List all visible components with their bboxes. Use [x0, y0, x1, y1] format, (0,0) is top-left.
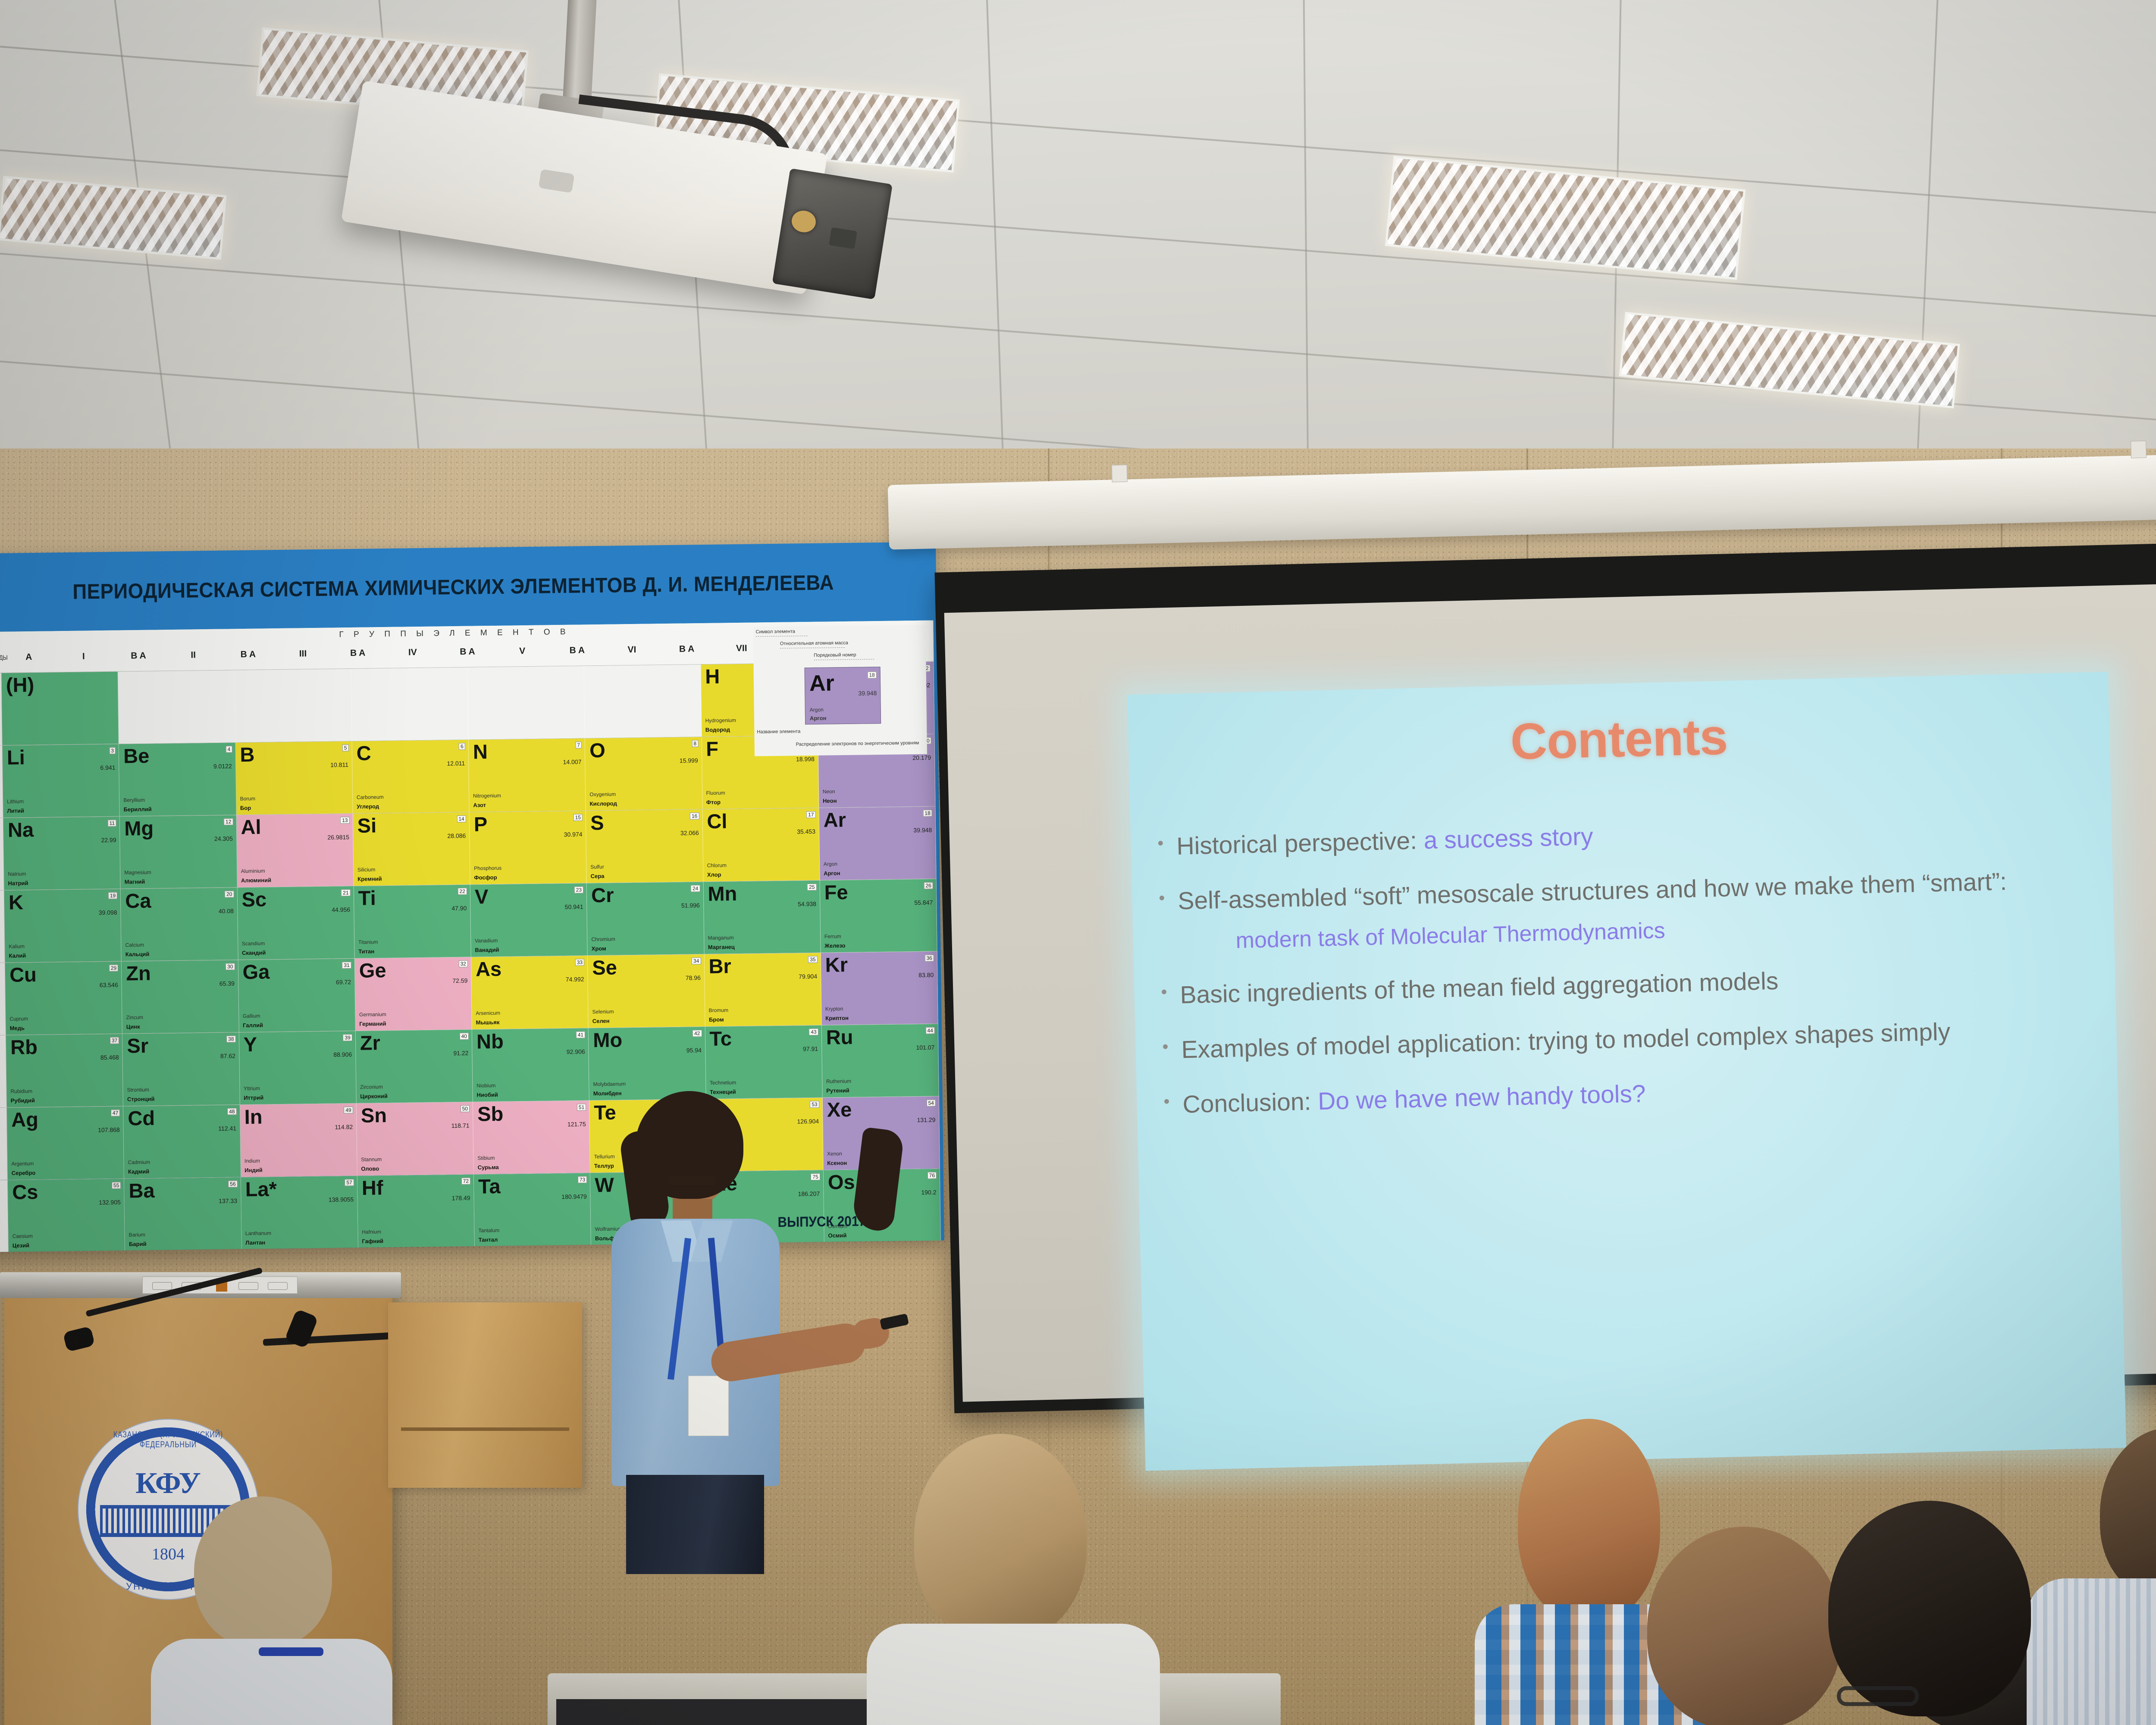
element-russian-name: Скандий	[242, 949, 266, 956]
element-cell: Ar1839.948ArgonАргон	[819, 806, 936, 880]
slide-bullet-item: • Historical perspective: a success stor…	[1157, 809, 2112, 862]
element-latin-name: Caesium	[12, 1233, 33, 1239]
element-cell: Ge3272.59GermaniumГерманий	[354, 957, 472, 1031]
element-atomic-number: 37	[110, 1037, 119, 1044]
element-atomic-number: 8	[692, 740, 698, 747]
element-russian-name: Калий	[9, 952, 26, 959]
element-atomic-number: 73	[578, 1176, 587, 1183]
group-header: B A	[440, 646, 495, 666]
element-russian-name: Фтор	[706, 799, 721, 806]
eyeglasses-icon	[1837, 1686, 1919, 1706]
element-atomic-number: 56	[228, 1180, 238, 1187]
periodic-table-legend: Символ элемента Относительная атомная ма…	[753, 625, 927, 756]
element-atomic-number: 40	[459, 1033, 469, 1040]
element-russian-name: Серебро	[12, 1170, 36, 1176]
element-atomic-number: 76	[928, 1172, 937, 1179]
group-header: A	[1, 652, 56, 671]
legend-serial-caption: Порядковый номер	[814, 652, 856, 658]
audience-member	[177, 1496, 358, 1725]
element-latin-name: Zincum	[126, 1014, 144, 1020]
element-latin-name: Stannum	[361, 1156, 382, 1163]
element-cell: Cu2963.546CuprumМедь	[5, 962, 122, 1035]
periodic-table-grid: Г Р У П П Ы Э Л Е М Е Н Т О В ПЕРИОДЫ AI…	[0, 620, 940, 1162]
element-atomic-mass: 107.868	[98, 1126, 120, 1134]
element-latin-name: Ferrum	[824, 933, 841, 939]
group-header: B A	[659, 644, 714, 664]
slide-bullet-list: • Historical perspective: a success stor…	[1157, 809, 2118, 1121]
element-cell: Y3988.906YttriumИттрий	[239, 1031, 356, 1104]
element-atomic-mass: 12.011	[447, 760, 465, 767]
element-latin-name: Borum	[240, 796, 256, 802]
element-atomic-mass: 85.468	[100, 1054, 119, 1061]
element-atomic-number: 49	[344, 1107, 353, 1113]
element-atomic-mass: 40.08	[219, 907, 234, 914]
element-latin-name: Barium	[129, 1232, 145, 1238]
element-atomic-number: 29	[109, 965, 119, 972]
emblem-abbreviation: КФУ	[78, 1466, 259, 1501]
element-atomic-mass: 69.72	[336, 979, 351, 985]
element-latin-name: Rubidium	[10, 1088, 32, 1095]
element-cell: Sb51121.75StibiumСурьма	[473, 1101, 590, 1174]
element-latin-name: Vanadium	[475, 938, 498, 944]
element-russian-name: Титан	[358, 948, 374, 954]
element-latin-name: Lithium	[7, 798, 24, 804]
element-atomic-mass: 32.066	[680, 829, 699, 837]
element-atomic-mass: 22.99	[101, 837, 116, 844]
element-symbol: Sr	[127, 1035, 235, 1056]
element-cell: Ga3169.72GalliumГаллий	[238, 959, 355, 1032]
element-atomic-mass: 91.22	[453, 1050, 468, 1057]
audience-head	[2100, 1427, 2156, 1600]
element-atomic-number: 21	[341, 889, 351, 896]
legend-sample-latin: Argon	[810, 707, 824, 713]
element-atomic-mass: 178.49	[452, 1195, 470, 1202]
element-latin-name: Arsenicum	[476, 1010, 500, 1016]
element-russian-name: Лантан	[245, 1239, 265, 1246]
element-atomic-mass: 26.9815	[327, 834, 349, 841]
element-atomic-mass: 112.41	[218, 1125, 236, 1132]
element-latin-name: Titanium	[358, 939, 378, 945]
element-atomic-number: 54	[926, 1099, 936, 1106]
element-atomic-number: 15	[573, 814, 583, 821]
element-cell: La*57138.9055LanthanumЛантан	[241, 1176, 358, 1249]
audience-head	[194, 1496, 332, 1647]
element-cell: Zr4091.22ZirconiumЦирконий	[356, 1030, 473, 1103]
element-symbol: Kr	[825, 954, 934, 975]
element-atomic-mass: 24.305	[214, 835, 233, 842]
element-atomic-number: 30	[226, 963, 235, 970]
element-russian-name: Кальций	[125, 951, 150, 958]
element-atomic-mass: 88.906	[333, 1051, 352, 1058]
element-russian-name: Ванадий	[475, 947, 499, 953]
element-cell: Kr3683.80KryptonКриптон	[821, 951, 938, 1025]
element-latin-name: Nitrogenium	[473, 793, 501, 799]
legend-mass-caption: Относительная атомная масса	[780, 640, 848, 646]
bullet-dot-icon: •	[1161, 979, 1180, 1004]
ceiling	[0, 0, 2156, 483]
element-latin-name: Technetium	[710, 1079, 736, 1086]
presenter-name-badge	[688, 1376, 729, 1436]
legend-symbol-caption: Символ элемента	[755, 629, 795, 634]
element-atomic-mass: 10.811	[330, 761, 348, 768]
element-atomic-number: 4	[226, 746, 232, 753]
element-latin-name: Hydrogenium	[705, 717, 736, 724]
emblem-top-text: КАЗАНСКИЙ (ПРИВОЛЖСКИЙ) ФЕДЕРАЛЬНЫЙ	[96, 1430, 241, 1450]
element-atomic-mass: 101.07	[916, 1044, 934, 1051]
chair-back	[556, 1699, 875, 1725]
element-symbol: Tc	[709, 1028, 818, 1049]
element-cell: Ag47107.868ArgentumСеребро	[7, 1106, 124, 1179]
element-cell: Sn50118.71StannumОлово	[357, 1102, 474, 1176]
element-cell	[118, 670, 235, 743]
element-cell: Ru44101.07RutheniumРутений	[821, 1024, 939, 1097]
element-russian-name: Мышьяк	[476, 1019, 499, 1026]
element-cell: Ca2040.08CalciumКальций	[121, 888, 238, 961]
periodic-table-row: 4K1939.098KaliumКалийCa2040.08CalciumКал…	[0, 879, 937, 963]
element-cell: O815.999OxygeniumКислород	[585, 737, 702, 810]
group-header: II	[166, 650, 221, 670]
element-atomic-number: 18	[923, 810, 932, 817]
element-russian-name: Фосфор	[474, 874, 497, 881]
element-latin-name: Beryllium	[123, 797, 145, 803]
group-header: B A	[330, 648, 385, 668]
legend-sample-element: Ar 18 39.948 Argon Аргон	[805, 667, 881, 724]
element-cell: B510.811BorumБор	[235, 741, 353, 815]
element-atomic-mass: 65.39	[219, 980, 235, 987]
element-cell: Nb4192.906NiobiumНиобий	[472, 1028, 589, 1101]
element-cell: K1939.098KaliumКалий	[4, 889, 122, 963]
element-cell: Be49.0122BerylliumБериллий	[119, 743, 236, 816]
element-atomic-number: 47	[111, 1110, 120, 1117]
element-russian-name: Сера	[591, 873, 605, 879]
element-russian-name: Олово	[361, 1165, 379, 1172]
element-atomic-mass: 97.91	[803, 1045, 818, 1052]
element-russian-name: Цирконий	[360, 1093, 388, 1100]
element-cell: Li36.941LithiumЛитий	[3, 744, 120, 818]
group-header: V	[495, 646, 550, 665]
element-cell: Rb3785.468RubidiumРубидий	[6, 1034, 123, 1107]
element-atomic-mass: 138.9055	[329, 1196, 354, 1203]
element-latin-name: Indium	[244, 1158, 260, 1164]
element-atomic-mass: 39.948	[913, 827, 932, 834]
element-latin-name: Germanium	[359, 1011, 386, 1018]
element-atomic-mass: 55.847	[914, 899, 933, 906]
element-atomic-mass: 15.999	[680, 757, 698, 764]
element-cell	[235, 669, 352, 742]
legend-sample-mass: 39.948	[858, 690, 877, 697]
legend-shells-caption: Распределение электронов по энергетическ…	[796, 740, 921, 747]
element-latin-name: Hafnium	[362, 1229, 381, 1235]
element-russian-name: Германий	[359, 1020, 386, 1027]
element-atomic-number: 20	[225, 891, 234, 897]
element-atomic-mass: 6.941	[100, 764, 115, 771]
element-cell: Cr2451.996ChromiumХром	[587, 882, 704, 955]
audience-shoulders	[867, 1624, 1160, 1725]
element-atomic-mass: 118.71	[451, 1122, 470, 1129]
element-atomic-mass: 180.9479	[561, 1193, 587, 1200]
periodic-table-row: 3Na1122.99NatriumНатрийMg1224.305Magnesi…	[0, 806, 937, 891]
socket-icon	[152, 1282, 172, 1290]
periodic-table-row: Cu2963.546CuprumМедьZn3065.39ZincumЦинкG…	[0, 951, 938, 1035]
bullet-text: Self-assembled “soft” mesoscale structur…	[1178, 863, 2113, 917]
element-atomic-number: 51	[577, 1104, 586, 1110]
element-atomic-mass: 9.0122	[213, 762, 232, 770]
element-atomic-mass: 121.75	[567, 1120, 586, 1128]
element-russian-name: Кремний	[357, 875, 382, 882]
element-atomic-number: 42	[693, 1030, 702, 1037]
slide-bullet-item: • Examples of model application: trying …	[1162, 1012, 2117, 1066]
element-cell: Se3478.96SeleniumСелен	[588, 954, 705, 1028]
cabinet-drawer-line	[401, 1427, 569, 1431]
element-atomic-number: 6	[459, 743, 465, 750]
element-russian-name: Ниобий	[477, 1091, 498, 1098]
projector-sensor-icon	[539, 169, 575, 193]
group-header: VI	[605, 644, 660, 664]
legend-sample-number: 18	[867, 671, 877, 678]
element-symbol: Se	[592, 957, 701, 978]
lecture-hall-scene: ПЕРИОДИЧЕСКАЯ СИСТЕМА ХИМИЧЕСКИХ ЭЛЕМЕНТ…	[0, 0, 2156, 1725]
group-header: I	[56, 651, 111, 671]
element-atomic-mass: 39.098	[99, 909, 117, 916]
socket-icon	[238, 1282, 258, 1290]
element-russian-name: Бериллий	[124, 806, 152, 813]
element-atomic-mass: 50.941	[565, 903, 583, 910]
bullet-dot-icon: •	[1159, 885, 1178, 910]
element-latin-name: Silicium	[357, 866, 376, 873]
bullet-accent-text: Do we have new handy tools?	[1318, 1080, 1646, 1115]
element-russian-name: Тантал	[479, 1236, 498, 1243]
element-symbol: Mo	[593, 1029, 702, 1050]
slide-title: Contents	[1128, 699, 2110, 781]
element-russian-name: Водород	[705, 726, 730, 733]
element-atomic-number: 12	[224, 818, 233, 825]
element-russian-name: Углерод	[357, 803, 379, 810]
element-russian-name: Хром	[592, 945, 606, 952]
element-latin-name: Chromium	[591, 936, 615, 943]
presenter-trousers	[626, 1475, 764, 1574]
element-latin-name: Neon	[823, 788, 835, 794]
element-cell: In49114.82IndiumИндий	[240, 1104, 357, 1177]
element-russian-name: Кадмий	[128, 1168, 149, 1175]
bullet-text: Historical perspective: a success story	[1176, 809, 2112, 862]
element-symbol: Ca	[125, 890, 234, 911]
socket-icon	[268, 1282, 288, 1290]
screen-surface: Contents • Historical perspective: a suc…	[944, 581, 2156, 1402]
screen-mount-right	[2131, 441, 2147, 458]
slide-bullet-item: • Conclusion: Do we have new handy tools…	[1163, 1067, 2118, 1121]
element-atomic-mass: 95.94	[686, 1047, 702, 1054]
element-atomic-number: 43	[809, 1029, 818, 1035]
element-russian-name: Неон	[823, 797, 837, 804]
element-russian-name: Медь	[10, 1025, 25, 1031]
element-atomic-number: 26	[924, 882, 933, 889]
element-latin-name: Cadmium	[128, 1159, 150, 1166]
projector-port-icon	[790, 209, 817, 234]
element-russian-name: Литий	[7, 807, 24, 814]
element-atomic-number: 16	[690, 812, 699, 819]
slide-subline: modern task of Molecular Thermodynamics	[1235, 906, 2114, 955]
element-cell: Al1326.9815AluminiumАлюминий	[236, 814, 354, 887]
group-header: B A	[221, 649, 276, 669]
element-atomic-mass: 20.179	[912, 754, 931, 762]
element-russian-name: Иттрий	[244, 1095, 263, 1101]
element-cell: Mg1224.305MagnesiumМагний	[120, 815, 237, 888]
element-atomic-mass: 74.992	[566, 975, 584, 983]
element-cell: Br3579.904BromumБром	[704, 953, 821, 1026]
element-atomic-number: 14	[457, 815, 466, 822]
element-russian-name: Рубидий	[11, 1097, 35, 1104]
element-cell: Zn3065.39ZincumЦинк	[122, 960, 239, 1033]
element-russian-name: Магний	[125, 878, 145, 885]
laser-pointer[interactable]	[880, 1314, 909, 1330]
element-russian-name: Цезий	[13, 1242, 30, 1248]
element-latin-name: Yttrium	[244, 1085, 260, 1091]
element-russian-name: Кислород	[590, 800, 617, 807]
element-russian-name: Гафний	[362, 1238, 383, 1245]
element-latin-name: Lanthanum	[245, 1230, 271, 1236]
screen-mount-left	[1112, 465, 1128, 483]
element-latin-name: Aluminium	[241, 868, 265, 874]
element-latin-name: Niobium	[476, 1082, 495, 1089]
element-symbol: Ga	[242, 961, 351, 982]
element-russian-name: Натрий	[8, 880, 28, 887]
element-russian-name: Азот	[473, 802, 486, 808]
element-cell: Na1122.99NatriumНатрий	[3, 817, 121, 890]
element-atomic-mass: 83.80	[918, 972, 934, 979]
element-russian-name: Бор	[240, 805, 251, 811]
side-cabinet	[388, 1302, 582, 1488]
element-cell	[584, 665, 702, 738]
element-russian-name: Селен	[592, 1018, 610, 1024]
element-atomic-mass: 92.906	[567, 1048, 585, 1055]
element-russian-name: Бром	[709, 1016, 724, 1022]
element-latin-name: Selenium	[592, 1009, 614, 1015]
element-latin-name: Manganum	[708, 935, 734, 941]
bullet-text: Basic ingredients of the mean field aggr…	[1180, 957, 2115, 1011]
projector-lens	[772, 168, 893, 299]
element-atomic-mass: 54.938	[798, 900, 816, 908]
element-atomic-mass: 18.998	[796, 756, 815, 763]
element-russian-name: Криптон	[825, 1015, 849, 1022]
element-symbol: Ti	[358, 888, 467, 908]
element-symbol: (H)	[6, 674, 115, 695]
element-cell: Cd48112.41CadmiumКадмий	[123, 1105, 241, 1178]
element-symbol: Li	[7, 747, 116, 768]
element-cell: Ta73180.9479TantalumТантал	[474, 1173, 591, 1246]
bullet-accent-text: a success story	[1423, 823, 1593, 854]
element-atomic-number: 57	[345, 1179, 354, 1186]
presenter	[608, 1091, 910, 1578]
element-atomic-mass: 14.007	[563, 758, 582, 765]
element-latin-name: Scandium	[242, 940, 265, 947]
element-atomic-number: 50	[461, 1105, 470, 1112]
projector-port2-icon	[829, 227, 857, 249]
element-atomic-number: 55	[112, 1182, 121, 1189]
element-russian-name: Аргон	[824, 870, 840, 876]
element-russian-name: Стронций	[127, 1096, 155, 1103]
element-latin-name: Chlorum	[707, 862, 727, 869]
element-russian-name: Барий	[129, 1241, 147, 1247]
element-russian-name: Марганец	[708, 944, 735, 950]
element-russian-name: Цинк	[126, 1023, 140, 1030]
element-atomic-number: 19	[108, 892, 118, 899]
element-russian-name: Железо	[824, 942, 846, 949]
element-latin-name: Sulfur	[590, 864, 604, 870]
element-latin-name: Strontium	[127, 1087, 150, 1093]
bullet-text: Conclusion: Do we have new handy tools?	[1182, 1067, 2118, 1120]
element-atomic-number: 17	[806, 811, 816, 818]
element-cell: Mo4295.94MolybdaenumМолибден	[589, 1027, 706, 1100]
element-latin-name: Stibium	[477, 1155, 495, 1161]
projection-screen: Contents • Historical perspective: a suc…	[934, 540, 2156, 1413]
audience-lanyard	[259, 1647, 323, 1656]
element-atomic-mass: 72.59	[452, 977, 467, 984]
element-latin-name: Carboneum	[357, 794, 384, 800]
element-atomic-number: 31	[342, 962, 351, 969]
element-atomic-mass: 51.996	[681, 902, 700, 909]
group-header: B A	[111, 650, 166, 670]
element-latin-name: Kalium	[9, 943, 25, 949]
presenter-moustache	[668, 1176, 716, 1185]
element-latin-name: Calcium	[125, 942, 144, 948]
element-atomic-number: 41	[576, 1031, 586, 1038]
element-atomic-number: 32	[458, 960, 468, 967]
element-latin-name: Natrium	[8, 871, 26, 877]
element-atomic-number: 35	[808, 956, 818, 963]
element-atomic-number: 33	[575, 959, 585, 966]
element-atomic-number: 5	[342, 744, 349, 751]
element-atomic-number: 36	[924, 955, 934, 962]
element-latin-name: Krypton	[825, 1006, 843, 1012]
group-header: III	[276, 649, 331, 668]
element-atomic-mass: 28.086	[447, 832, 466, 840]
element-symbol: Zr	[360, 1032, 469, 1053]
period-number: 6	[0, 1180, 9, 1252]
element-cell	[467, 666, 585, 739]
element-russian-name: Алюминий	[241, 877, 271, 884]
element-cell: Hf72178.49HafniumГафний	[357, 1175, 475, 1248]
element-cell: Ti2247.90TitaniumТитан	[354, 885, 471, 958]
element-atomic-mass: 132.905	[99, 1199, 121, 1206]
element-cell: Ba56137.33BariumБарий	[124, 1177, 241, 1251]
bullet-dot-icon: •	[1162, 1034, 1181, 1059]
element-atomic-number: 72	[461, 1178, 471, 1185]
element-cell	[351, 668, 468, 741]
element-atomic-mass: 79.904	[799, 973, 817, 980]
element-cell: Mn2554.938ManganumМарганец	[703, 881, 821, 954]
element-latin-name: Fluorum	[706, 790, 725, 796]
element-atomic-mass: 63.546	[100, 982, 118, 989]
element-cell: As3374.992ArsenicumМышьяк	[471, 956, 589, 1029]
element-latin-name: Tantalum	[478, 1227, 499, 1234]
element-latin-name: Bromum	[709, 1007, 729, 1013]
element-latin-name: Molybdaenum	[593, 1081, 626, 1087]
element-atomic-mass: 35.453	[797, 828, 815, 835]
poster-title: ПЕРИОДИЧЕСКАЯ СИСТЕМА ХИМИЧЕСКИХ ЭЛЕМЕНТ…	[4, 570, 903, 605]
element-cell: S1632.066SulfurСера	[586, 809, 703, 883]
element-cell: N714.007NitrogeniumАзот	[469, 738, 586, 812]
element-cell: P1530.974PhosphorusФосфор	[470, 811, 587, 884]
element-cell: Fe2655.847FerrumЖелезо	[820, 879, 937, 952]
element-latin-name: Ruthenium	[826, 1078, 851, 1085]
audience-head	[1828, 1501, 2031, 1716]
element-latin-name: Gallium	[243, 1013, 260, 1019]
element-symbol: Na	[8, 819, 116, 840]
element-atomic-number: 38	[226, 1035, 236, 1042]
element-cell: (H)	[2, 672, 119, 745]
element-latin-name: Argon	[824, 861, 837, 867]
element-atomic-number: 48	[227, 1108, 237, 1115]
